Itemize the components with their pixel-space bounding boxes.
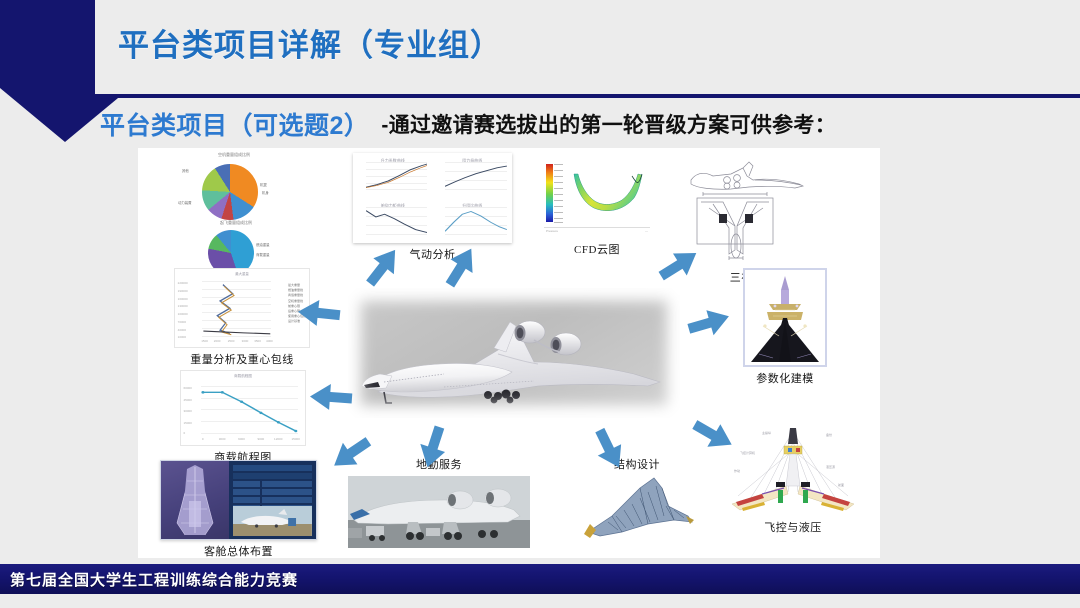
node-parametric-modeling: 参数化建模 [743, 268, 827, 386]
node-payload-range: 商载航程图 600004500030000 150000 030006000 9… [180, 370, 306, 465]
svg-text:舵面: 舵面 [838, 482, 844, 487]
weight-cg-envelope-caption: 重量分析及重心包线 [190, 351, 294, 367]
node-weight-breakdown: 空机重量组成比例 机翼 机身 动力装置 其他 起飞重量组成比例 燃油重量 商载重… [164, 150, 314, 271]
footer-text: 第七届全国大学生工程训练综合能力竞赛 [10, 569, 298, 590]
cabin-spec-table [229, 461, 316, 539]
pie-1-label-b: 机身 [262, 190, 269, 195]
pie-1 [202, 164, 258, 220]
pie-1-label-a: 机翼 [260, 182, 267, 187]
weight-cg-envelope-chart: 最大重量 220000190000160000 1300001000007000… [174, 268, 310, 348]
svg-text:备份: 备份 [826, 432, 832, 437]
pie-2-label-b: 商载重量 [256, 252, 270, 257]
cfd-colorbar [546, 164, 553, 222]
pie-1-label-d: 其他 [182, 168, 189, 173]
cfd-contour-plot: Pressure — [538, 156, 656, 238]
parametric-modeling-caption: 参数化建模 [756, 370, 814, 386]
aero-drag-polar: 阻力极曲线 [435, 155, 511, 196]
node-cabin-layout: 客舱总体布置 [160, 460, 317, 559]
footer-padding [0, 594, 1080, 608]
table-row [233, 489, 312, 495]
svg-text:主操纵: 主操纵 [762, 430, 771, 435]
table-row [233, 497, 312, 503]
node-structural-design: 结构设计 [578, 456, 696, 544]
parametric-model-view [743, 268, 827, 367]
flight-control-schematic: 主操纵 备份 飞控计算机 作动 液压源 舵面 [718, 424, 868, 516]
pie-2-title: 起飞重量组成比例 [220, 220, 252, 226]
cabin-layout-caption: 客舱总体布置 [204, 543, 273, 559]
cfd-surface-contour [572, 172, 646, 218]
pie-1-label-c: 动力装置 [178, 200, 192, 205]
y-axis-ticks: 600004500030000 150000 [183, 386, 200, 433]
svg-text:飞控计算机: 飞控计算机 [740, 450, 755, 455]
footer-bar: 第七届全国大学生工程训练综合能力竞赛 [0, 564, 1080, 594]
arrow-to-parametric [683, 302, 735, 344]
cfd-contour-caption: CFD云图 [574, 241, 620, 257]
y-axis-ticks: 220000190000160000 13000010000070000 400… [178, 281, 202, 336]
aero-ld-ratio: 升阻比曲线 [435, 200, 511, 241]
content-panel: 空机重量组成比例 机翼 机身 动力装置 其他 起飞重量组成比例 燃油重量 商载重… [138, 148, 880, 558]
table-row [233, 465, 312, 471]
structural-design-model [578, 476, 696, 544]
pie-1-title: 空机重量组成比例 [218, 152, 250, 158]
x-axis-ticks: 030006000 90001200015000 [201, 437, 298, 443]
aero-lift-curve: 升力系数曲线 [355, 155, 431, 196]
node-flight-control-hydraulics: 主操纵 备份 飞控计算机 作动 液压源 舵面 飞控与液压 [718, 424, 868, 535]
cfd-colorbar-ticks [554, 164, 568, 222]
node-aero-analysis: 升力系数曲线 阻力极曲线 [353, 153, 512, 262]
node-weight-cg-envelope: 最大重量 220000190000160000 1300001000007000… [174, 268, 310, 367]
page-title: 平台类项目详解（专业组） [118, 20, 502, 65]
arrow-to-payload-range [307, 380, 355, 413]
cfd-footer-labels: Pressure — [544, 227, 650, 233]
slide-canvas: 平台类项目详解（专业组） 平台类项目（可选题2） -通过邀请赛选拔出的第一轮晋级… [0, 0, 1080, 608]
pie-2 [208, 230, 254, 268]
weight-breakdown-pie-charts: 空机重量组成比例 机翼 机身 动力装置 其他 起飞重量组成比例 燃油重量 商载重… [164, 150, 314, 268]
aero-moment-curve: 俯仰力矩曲线 [355, 200, 431, 241]
three-view-drawing [683, 158, 811, 266]
payload-range-title: 商载航程图 [181, 374, 305, 379]
subtitle-description: -通过邀请赛选拔出的第一轮晋级方案可供参考： [381, 109, 836, 139]
node-cfd-contour: Pressure — CFD云图 [538, 156, 656, 257]
flight-control-hydraulics-caption: 飞控与液压 [764, 519, 822, 535]
table-row [233, 473, 312, 479]
pie-2-label-a: 燃油重量 [256, 242, 270, 247]
x-axis-ticks: 150020002500 300035004000 [202, 339, 272, 345]
cfd-scale-note: — [645, 229, 648, 233]
cfd-colorbar-label: Pressure [546, 229, 558, 233]
table-row [233, 481, 312, 487]
weight-cg-envelope-title: 最大重量 [175, 271, 309, 276]
arrow-to-weight-cg [295, 296, 344, 331]
title-divider [95, 94, 1080, 98]
aero-analysis-chart-grid: 升力系数曲线 阻力极曲线 [353, 153, 512, 243]
cabin-photo-thumb [233, 506, 312, 536]
subtitle-highlight: 平台类项目（可选题2） [100, 106, 369, 142]
cabin-3d-view [161, 461, 229, 539]
subtitle-row: 平台类项目（可选题2） -通过邀请赛选拔出的第一轮晋级方案可供参考： [95, 104, 1080, 144]
payload-range-chart: 商载航程图 600004500030000 150000 030006000 9… [180, 370, 306, 446]
cabin-layout-board [160, 460, 317, 540]
svg-text:液压源: 液压源 [826, 464, 835, 469]
svg-text:作动: 作动 [734, 468, 740, 473]
ground-service-render [348, 476, 530, 548]
blended-wing-body-aircraft-render [348, 288, 680, 418]
